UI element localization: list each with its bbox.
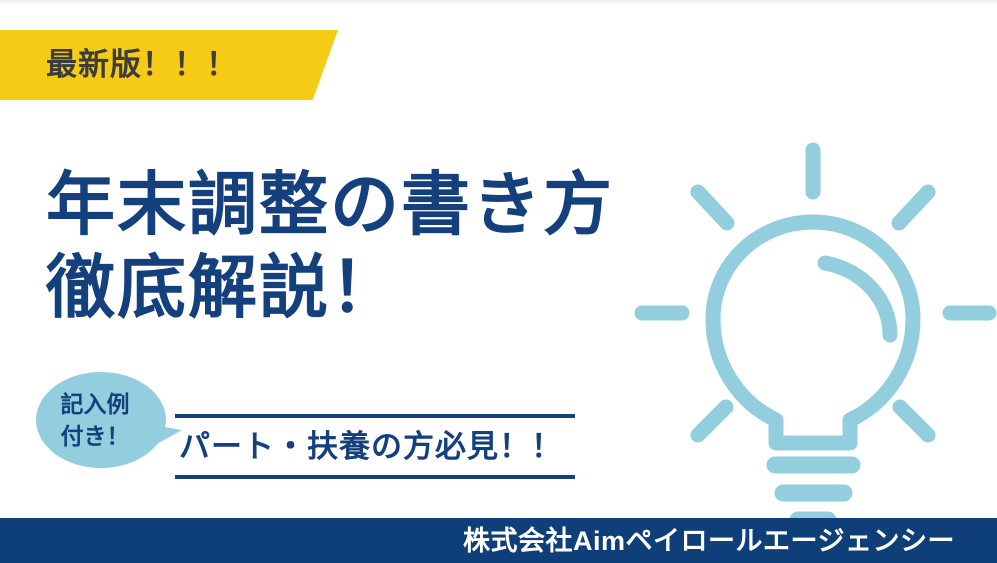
subtitle-rule-bottom <box>175 475 575 479</box>
ray-bottom-left-icon <box>698 407 726 435</box>
badge-label-line-2: 付き！ <box>36 420 154 452</box>
thumbnail-canvas: 最新版！！！ 年末調整の書き方 徹底解説！ 記入例 付き！ パート・扶養の方必見… <box>0 0 997 563</box>
subtitle-text: パート・扶養の方必見！！ <box>175 418 575 475</box>
sample-included-badge: 記入例 付き！ <box>36 372 166 468</box>
company-name: 株式会社Aimペイロールエージェンシー <box>463 519 955 563</box>
ray-top-left-icon <box>698 192 727 223</box>
ray-bottom-right-icon <box>900 407 928 435</box>
badge-label: 記入例 付き！ <box>36 388 154 452</box>
subtitle-block: パート・扶養の方必見！！ <box>175 414 575 479</box>
bulb-highlight-arc-icon <box>825 263 890 335</box>
ribbon-label: 最新版！！！ <box>46 41 326 89</box>
lightbulb-icon <box>620 120 997 525</box>
lightbulb-illustration-svg <box>620 120 997 525</box>
top-divider <box>0 0 997 3</box>
ray-top-right-icon <box>899 192 928 223</box>
badge-label-line-1: 記入例 <box>36 388 154 420</box>
